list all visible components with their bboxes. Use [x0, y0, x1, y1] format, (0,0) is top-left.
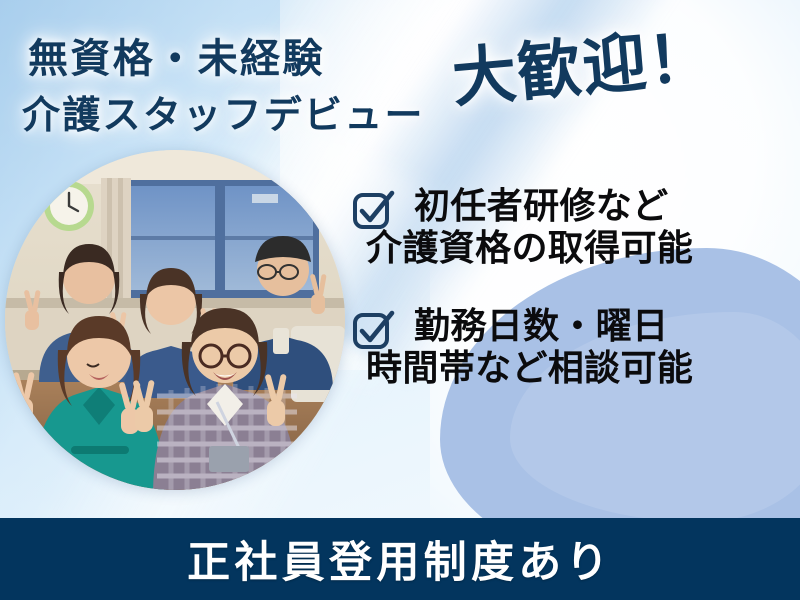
staff-photo-illustration — [5, 150, 345, 490]
benefit-2-line-1: 勤務日数・曜日 — [414, 306, 800, 348]
benefit-item-1: 初任者研修など 介護資格の取得可能 — [352, 186, 800, 270]
poster-root: 無資格・未経験 介護スタッフデビュー 大歓迎！ — [0, 0, 800, 600]
benefit-1-line-1: 初任者研修など — [414, 186, 800, 228]
headline-emphasis: 大歓迎！ — [448, 5, 716, 119]
benefit-1-line-2: 介護資格の取得可能 — [366, 228, 800, 270]
benefit-item-2: 勤務日数・曜日 時間帯など相談可能 — [352, 306, 800, 390]
bottom-banner: 正社員登用制度あり — [0, 518, 800, 600]
benefit-2-line-2: 時間帯など相談可能 — [366, 348, 800, 390]
checkbox-checked-icon — [352, 190, 392, 230]
checkbox-checked-icon — [352, 310, 392, 350]
headline-line-2: 介護スタッフデビュー — [22, 84, 425, 139]
benefits-list: 初任者研修など 介護資格の取得可能 勤務日数・曜日 時間帯など相談可能 — [352, 186, 800, 426]
headline-line-1: 無資格・未経験 — [28, 26, 325, 84]
bottom-banner-text: 正社員登用制度あり — [187, 528, 613, 590]
staff-group-photo — [5, 150, 345, 490]
